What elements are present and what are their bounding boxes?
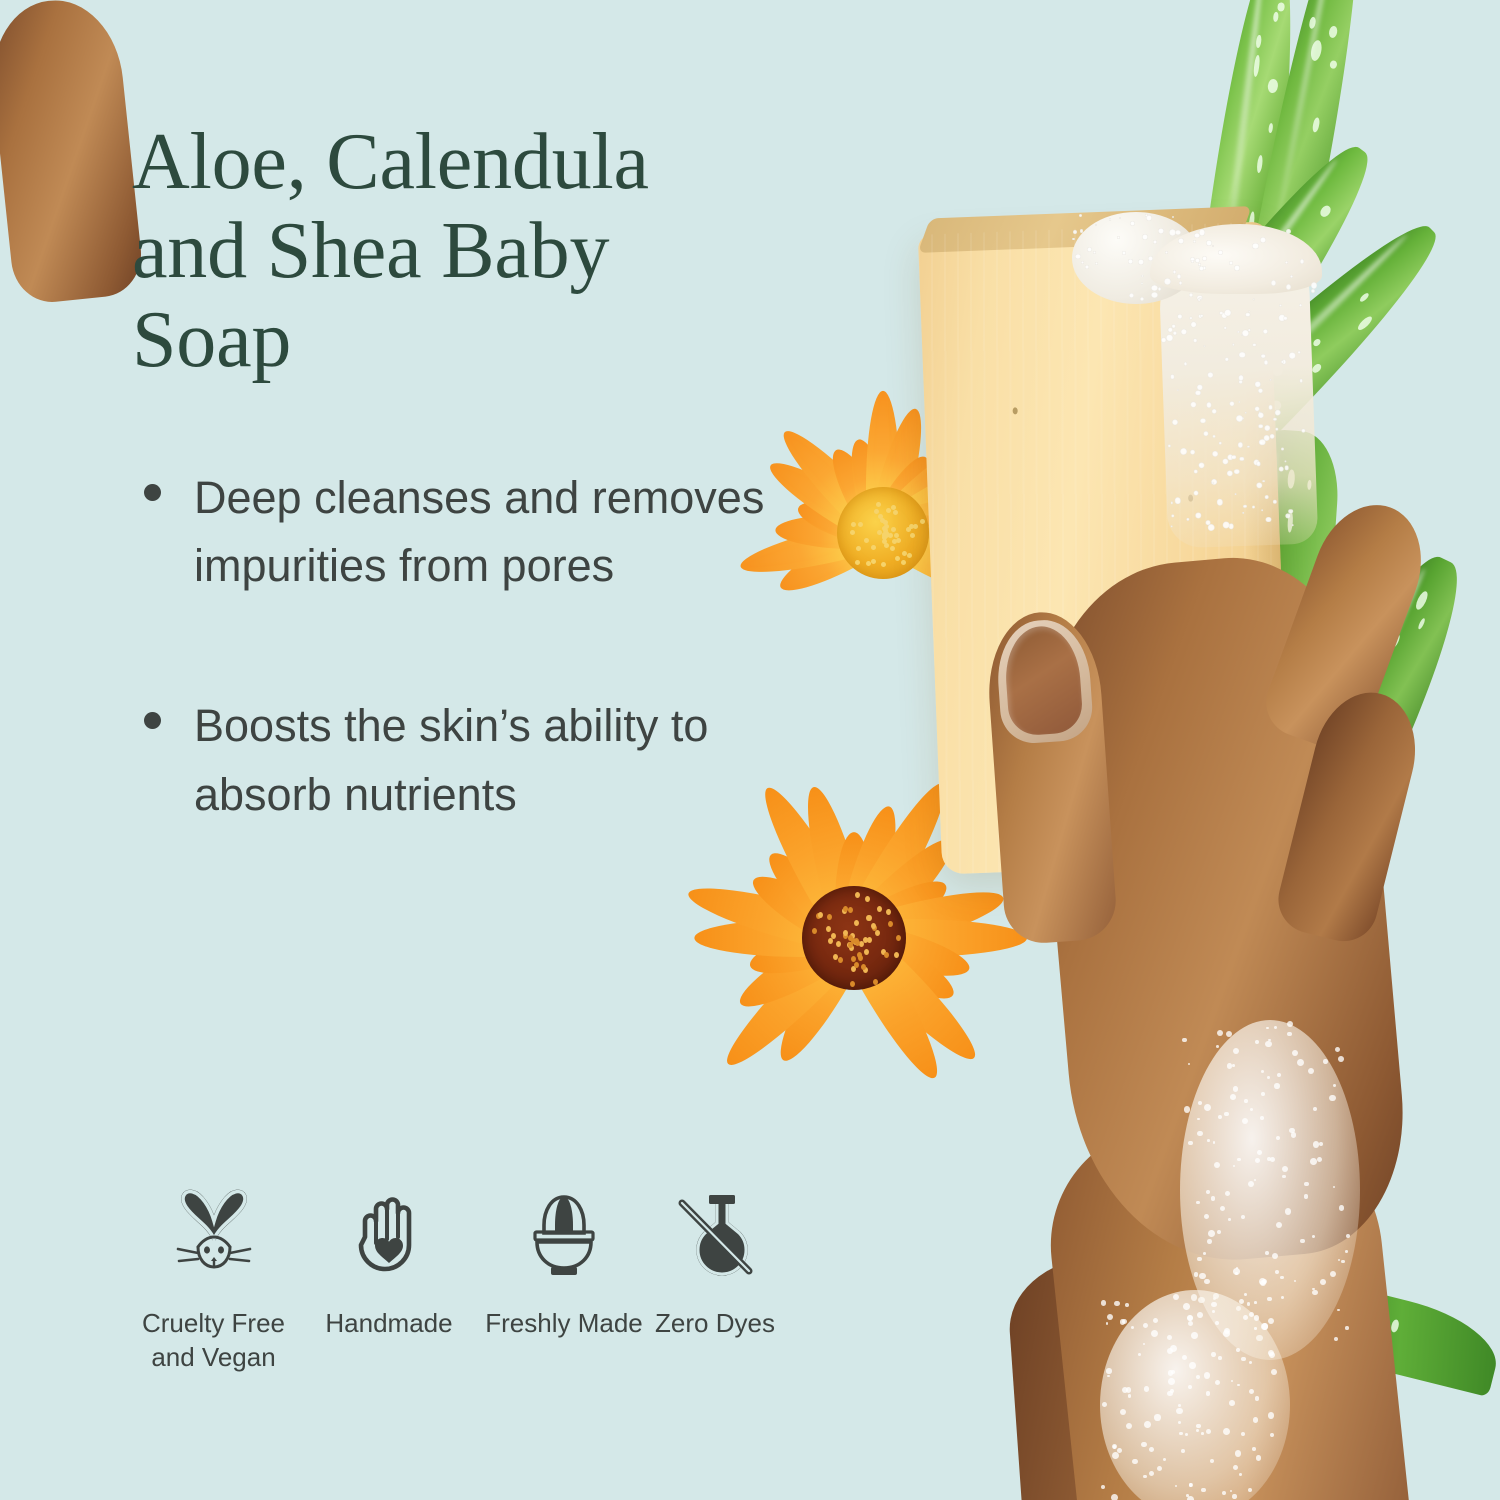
flower-petal: [715, 925, 868, 1078]
leaf-speck: [1303, 616, 1312, 626]
sud-bubble: [1272, 1253, 1279, 1260]
foam-bubble: [1179, 281, 1183, 285]
sud-bubble: [1102, 1402, 1107, 1407]
leaf-speck: [1366, 1323, 1373, 1336]
foam-bubble: [1254, 406, 1260, 412]
sud-bubble: [1213, 1297, 1216, 1300]
foam-bubble: [1165, 272, 1167, 274]
sud-bubble: [1269, 1352, 1275, 1358]
foam-bubble: [1200, 418, 1206, 424]
leaf-speck: [1040, 551, 1052, 564]
sud-bubble: [1107, 1375, 1109, 1377]
pollen-dot: [883, 533, 888, 538]
sud-bubble: [1126, 1423, 1132, 1429]
pollen-dot: [920, 519, 925, 524]
sud-bubble: [1270, 1157, 1276, 1163]
foam-bubble: [1292, 524, 1294, 526]
leaf-speck: [1256, 155, 1263, 174]
leaf-speck: [1391, 634, 1401, 649]
pollen-dot: [906, 527, 911, 532]
no-flask-icon: [669, 1185, 761, 1285]
leaf-speck: [1237, 258, 1246, 268]
foam-bubble: [1166, 335, 1173, 342]
leaf-speck: [1337, 1321, 1346, 1331]
sud-bubble: [1282, 1175, 1286, 1179]
sud-bubble: [1179, 1432, 1183, 1436]
sud-bubble: [1271, 1369, 1277, 1375]
foam-bubble: [1158, 287, 1161, 290]
leaf-speck: [1241, 1435, 1251, 1446]
foam-bubble: [1145, 214, 1148, 217]
sud-bubble: [1267, 1076, 1270, 1079]
foam-bubble: [1281, 360, 1284, 363]
pollen-dot: [857, 952, 862, 958]
pollen-dot: [866, 561, 871, 566]
foam-bubble: [1151, 285, 1157, 291]
sud-bubble: [1262, 1323, 1268, 1329]
foam-bubble: [1252, 243, 1259, 250]
foam-bubble: [1239, 380, 1243, 384]
sud-bubble: [1235, 1272, 1238, 1275]
flower-petal: [866, 391, 900, 533]
sud-bubble: [1262, 1279, 1267, 1284]
foam-bubble: [1284, 460, 1287, 463]
pollen-dot: [855, 892, 860, 898]
sud-bubble: [1224, 1112, 1229, 1117]
pollen-dot: [827, 914, 832, 920]
foam-bubble: [1269, 434, 1274, 439]
sud-bubble: [1281, 1296, 1284, 1299]
pollen-dot: [909, 524, 914, 529]
foam-bubble: [1232, 343, 1234, 345]
flower-petal: [854, 919, 1027, 957]
sud-bubble: [1173, 1294, 1179, 1300]
leaf-speck: [1308, 1479, 1315, 1496]
pollen-dot: [828, 938, 833, 944]
foam-bubble: [1207, 402, 1212, 407]
hand: [1025, 547, 1415, 1273]
sud-bubble: [1106, 1322, 1108, 1324]
pollen-dot: [907, 553, 912, 558]
leaf-speck: [1274, 288, 1289, 306]
sud-bubble: [1138, 1353, 1141, 1356]
foam-bubble: [1190, 402, 1196, 408]
pollen-dot: [861, 964, 866, 970]
finger: [1257, 490, 1440, 759]
foam-bubble: [1300, 259, 1304, 263]
sud-bubble: [1254, 1315, 1259, 1320]
thumb: [0, 0, 145, 306]
foam-bubble: [1095, 262, 1098, 265]
foam-bubble: [1256, 482, 1262, 488]
sud-bubble: [1239, 1299, 1244, 1304]
foam-bubble: [1168, 445, 1171, 448]
pollen-dot: [859, 941, 864, 947]
pollen-dot: [831, 933, 836, 939]
pollen-dot: [866, 915, 871, 921]
pollen-dot: [858, 955, 863, 961]
sud-bubble: [1167, 1348, 1173, 1354]
foam-bubble: [1162, 249, 1164, 251]
sud-bubble: [1207, 1139, 1210, 1142]
foam-bubble: [1158, 228, 1164, 234]
foam-bubble: [1140, 297, 1144, 301]
foam-bubble: [1261, 509, 1263, 511]
foam-bubble: [1129, 293, 1134, 298]
leaf-speck: [1213, 455, 1226, 468]
pollen-dot: [864, 538, 869, 543]
sud-bubble: [1117, 1448, 1122, 1453]
sud-bubble: [1320, 1279, 1326, 1285]
foam-bubble: [1273, 499, 1277, 503]
foam-bubble: [1163, 265, 1166, 268]
sud-bubble: [1268, 1412, 1274, 1418]
flower-petal: [883, 514, 971, 550]
flower-petal: [874, 443, 1017, 547]
bunny-heart-ears-icon: [168, 1185, 260, 1285]
foam-bubble: [1189, 293, 1193, 297]
sud-bubble: [1289, 1128, 1294, 1133]
sud-bubble: [1170, 1345, 1177, 1352]
pollen-dot: [882, 532, 887, 537]
leaf-speck: [1121, 468, 1137, 487]
flower-petal: [849, 880, 1008, 957]
leaf-speck: [1278, 271, 1287, 284]
sud-bubble: [1339, 1205, 1345, 1211]
sud-bubble: [1106, 1368, 1111, 1373]
badge-cruelty-free: Cruelty Free and Vegan: [132, 1185, 295, 1375]
flower-petal: [849, 920, 974, 988]
foam-bubble: [1173, 270, 1177, 274]
leaf-speck: [1082, 566, 1095, 579]
foam-bubble: [1234, 493, 1236, 495]
flower-petal: [731, 922, 863, 1020]
flower-petal: [835, 832, 873, 938]
foam-bubble: [1170, 525, 1172, 527]
leaf-speck: [1311, 362, 1323, 374]
foam-bubble: [1164, 263, 1167, 266]
sud-bubble: [1196, 1375, 1200, 1379]
benefits-list: Deep cleanses and removes impurities fro…: [132, 464, 772, 830]
sud-bubble: [1255, 1396, 1259, 1400]
sud-bubble: [1228, 1218, 1231, 1221]
sud-bubble: [1188, 1321, 1193, 1326]
sud-bubble: [1206, 1429, 1211, 1434]
foam-bubble: [1190, 321, 1196, 327]
foam-bubble: [1174, 497, 1181, 504]
foam-bubble: [1160, 272, 1165, 277]
pollen-dot: [842, 908, 847, 914]
badge-freshly-made: Freshly Made: [483, 1185, 645, 1341]
sud-bubble: [1268, 1039, 1270, 1041]
pollen-dot: [883, 528, 888, 533]
aloe-leaf-icon: [1164, 1376, 1326, 1479]
foam-bubble: [1229, 243, 1232, 246]
flower-petal: [838, 929, 952, 1088]
leaf-speck: [1248, 280, 1258, 298]
foam-bubble: [1172, 216, 1174, 218]
sud-bubble: [1248, 1181, 1255, 1188]
foam-bubble: [1285, 466, 1290, 471]
foam-bubble: [1181, 329, 1187, 335]
sud-bubble: [1204, 1104, 1211, 1111]
leaf-speck: [1267, 78, 1278, 93]
sud-bubble: [1111, 1494, 1118, 1500]
sud-bubble: [1132, 1459, 1137, 1464]
sud-bubble: [1304, 1182, 1309, 1187]
foam-bubble: [1195, 258, 1200, 263]
foam-bubble: [1228, 524, 1233, 529]
sud-bubble: [1223, 1428, 1230, 1435]
sud-bubble: [1175, 1485, 1177, 1487]
sud-bubble: [1230, 1094, 1236, 1100]
leaf-speck: [1244, 258, 1257, 272]
sud-bubble: [1191, 1294, 1197, 1300]
leaf-speck: [1217, 241, 1228, 260]
aloe-leaf-icon: [1241, 0, 1380, 326]
pollen-dot: [843, 930, 848, 936]
pollen-dot: [884, 952, 889, 958]
sud-bubble: [1226, 1031, 1232, 1037]
foam-bubble: [1239, 281, 1245, 287]
sud-bubble: [1249, 1361, 1253, 1365]
sud-bubble: [1291, 1132, 1297, 1138]
foam-bubble: [1238, 401, 1240, 403]
aloe-leaf-icon: [1210, 427, 1342, 952]
sud-bubble: [1217, 1030, 1224, 1037]
sud-bubble: [1249, 1389, 1255, 1395]
hand-with-heart-icon: [351, 1185, 427, 1285]
pollen-dot: [851, 966, 856, 972]
flower-petal: [875, 518, 1016, 615]
sud-bubble: [1213, 1141, 1215, 1143]
pollen-dot: [878, 514, 883, 519]
sud-bubble: [1230, 1490, 1232, 1492]
leaf-speck: [1273, 885, 1278, 896]
sud-bubble: [1244, 1099, 1248, 1103]
flower-petal: [795, 782, 872, 943]
foam-bubble: [1109, 218, 1112, 221]
sud-bubble: [1211, 1302, 1217, 1308]
foam-bubble: [1260, 441, 1263, 444]
pollen-dot: [892, 539, 897, 544]
pollen-dot: [848, 942, 853, 948]
foam-bubble: [1248, 328, 1251, 331]
soap-bar: [918, 222, 1292, 875]
sud-bubble: [1198, 1101, 1202, 1105]
sud-bubble: [1237, 1384, 1239, 1386]
flower-petal: [879, 516, 1010, 578]
sud-bubble: [1285, 1208, 1292, 1215]
foam-bubble: [1202, 266, 1206, 270]
leaf-speck: [1327, 765, 1342, 781]
foam-bubble: [1187, 263, 1189, 265]
sud-bubble: [1346, 1234, 1350, 1238]
sud-bubble: [1313, 1107, 1317, 1111]
sud-bubble: [1249, 1312, 1254, 1317]
foam-bubble: [1275, 410, 1281, 416]
foam-bubble: [1262, 480, 1265, 483]
pollen-dot: [896, 538, 901, 543]
sud-bubble: [1216, 1045, 1219, 1048]
foam-bubble: [1212, 451, 1218, 457]
leaf-speck: [1216, 376, 1229, 391]
sud-bubble: [1120, 1319, 1125, 1324]
foam-bubble: [1229, 401, 1234, 406]
sud-bubble: [1218, 1115, 1223, 1120]
foam-bubble: [1164, 278, 1171, 285]
sud-bubble: [1167, 1335, 1172, 1340]
foam-bubble: [1222, 521, 1229, 528]
pollen-dot: [910, 533, 915, 538]
foam-bubble: [1216, 499, 1223, 506]
leaf-speck: [1199, 1439, 1208, 1459]
foam-bubble: [1234, 469, 1239, 474]
badge-label: Zero Dyes: [655, 1307, 775, 1341]
foam-bubble: [1194, 469, 1198, 473]
leaf-speck: [1328, 25, 1338, 39]
leaf-speck: [1177, 481, 1190, 494]
aloe-leaf-icon: [1294, 1277, 1500, 1397]
sud-bubble: [1213, 1293, 1220, 1300]
leaf-speck: [1368, 708, 1379, 725]
foam-bubble: [1079, 214, 1082, 217]
foam-bubble: [1229, 261, 1233, 265]
sud-bubble: [1313, 1141, 1320, 1148]
flower-petal: [868, 449, 940, 541]
sud-bubble: [1198, 1297, 1204, 1303]
foam-bubble: [1172, 419, 1178, 425]
pollen-dot: [873, 979, 878, 985]
sud-bubble: [1182, 1355, 1187, 1360]
foam-bubble: [1119, 217, 1121, 219]
sud-bubble: [1196, 1201, 1199, 1204]
pollen-dot: [881, 949, 886, 955]
leaf-speck: [1308, 17, 1316, 30]
leaf-speck: [1270, 1447, 1282, 1464]
sud-bubble: [1143, 1343, 1145, 1345]
foam-bubble: [1218, 442, 1221, 445]
sud-bubble: [1345, 1326, 1349, 1330]
leaf-speck: [1144, 401, 1157, 415]
sud-bubble: [1267, 1297, 1271, 1301]
sud-bubble: [1211, 1196, 1215, 1200]
leaf-speck: [1255, 35, 1261, 49]
foam-bubble: [1193, 490, 1199, 496]
leaf-speck: [1287, 511, 1294, 532]
foam-bubble: [1223, 326, 1227, 330]
foam-bubble: [1153, 285, 1156, 288]
sud-bubble: [1257, 1150, 1262, 1155]
pollen-dot: [888, 533, 893, 538]
sud-bubble: [1222, 1491, 1226, 1495]
sud-bubble: [1334, 1337, 1338, 1341]
pollen-dot: [872, 925, 877, 931]
sud-bubble: [1168, 1370, 1173, 1375]
foam-bubble: [1236, 415, 1243, 422]
pollen-dot: [853, 939, 858, 945]
leaf-speck: [1327, 1493, 1334, 1500]
foam-bubble: [1281, 447, 1284, 450]
leaf-speck: [1266, 701, 1276, 711]
sud-bubble: [1189, 1483, 1193, 1487]
flower-petal: [836, 802, 908, 943]
pollen-dot: [882, 533, 887, 538]
sud-bubble: [1167, 1391, 1173, 1397]
sud-bubble: [1333, 1084, 1336, 1087]
foam-bubble: [1151, 292, 1157, 298]
pollen-dot: [850, 981, 855, 987]
foam-bubble: [1282, 360, 1286, 364]
foam-bubble: [1207, 524, 1214, 531]
foam-bubble: [1163, 251, 1166, 254]
foam-bubble: [1225, 269, 1232, 276]
sud-bubble: [1186, 1494, 1189, 1497]
flower-petal: [845, 922, 963, 1012]
sud-bubble: [1170, 1389, 1174, 1393]
foam-bubble: [1238, 375, 1244, 381]
sud-bubble: [1237, 1158, 1240, 1161]
foam-bubble: [1128, 259, 1132, 263]
trust-badges: Cruelty Free and Vegan Handmade: [132, 1185, 785, 1375]
sud-bubble: [1206, 1190, 1210, 1194]
sud-bubble: [1241, 1215, 1245, 1219]
forearm: [1005, 1238, 1385, 1500]
foam-bubble: [1130, 221, 1135, 226]
sud-bubble: [1236, 1267, 1238, 1269]
foam-bubble: [1176, 389, 1179, 392]
sud-bubble: [1312, 1288, 1314, 1290]
foam-bubble: [1263, 329, 1268, 334]
promo-graphic: Aloe, Calendula and Shea Baby Soap Deep …: [0, 0, 1500, 1500]
sud-bubble: [1265, 1041, 1272, 1048]
page-title: Aloe, Calendula and Shea Baby Soap: [132, 118, 772, 386]
sud-bubble: [1233, 1268, 1240, 1275]
foam-bubble: [1279, 315, 1286, 322]
pollen-dot: [896, 935, 901, 941]
aloe-leaf-icon: [1222, 1428, 1398, 1500]
foam-bubble: [1198, 298, 1201, 301]
foam-bubble: [1244, 412, 1246, 414]
sud-bubble: [1203, 1252, 1206, 1255]
foam-bubble: [1122, 251, 1126, 255]
foam-bubble: [1093, 251, 1096, 254]
foam-bubble: [1087, 247, 1092, 252]
leaf-speck: [1196, 354, 1210, 370]
sud-bubble: [1197, 1118, 1200, 1121]
mortar-and-pestle-icon: [518, 1185, 610, 1285]
foam-bubble: [1252, 298, 1254, 300]
sud-bubble: [1236, 1348, 1240, 1352]
sud-bubble: [1208, 1230, 1215, 1237]
pollen-dot: [883, 520, 888, 525]
sud-bubble: [1300, 1239, 1304, 1243]
foam-bubble: [1141, 275, 1143, 277]
sud-bubble: [1244, 1293, 1247, 1296]
foam-bubble: [1246, 312, 1251, 317]
leaf-speck: [1322, 788, 1333, 799]
pollen-dot: [893, 510, 898, 515]
foam-bubble: [1186, 518, 1189, 521]
flower-petal: [767, 929, 870, 1070]
sud-bubble: [1247, 1302, 1251, 1306]
pollen-dot: [816, 913, 821, 919]
sud-bubble: [1204, 1214, 1210, 1220]
wrist: [1039, 1104, 1411, 1500]
foam-bubble: [1080, 229, 1083, 232]
sud-bubble: [1254, 1179, 1256, 1181]
foam-bubble: [1255, 381, 1261, 387]
